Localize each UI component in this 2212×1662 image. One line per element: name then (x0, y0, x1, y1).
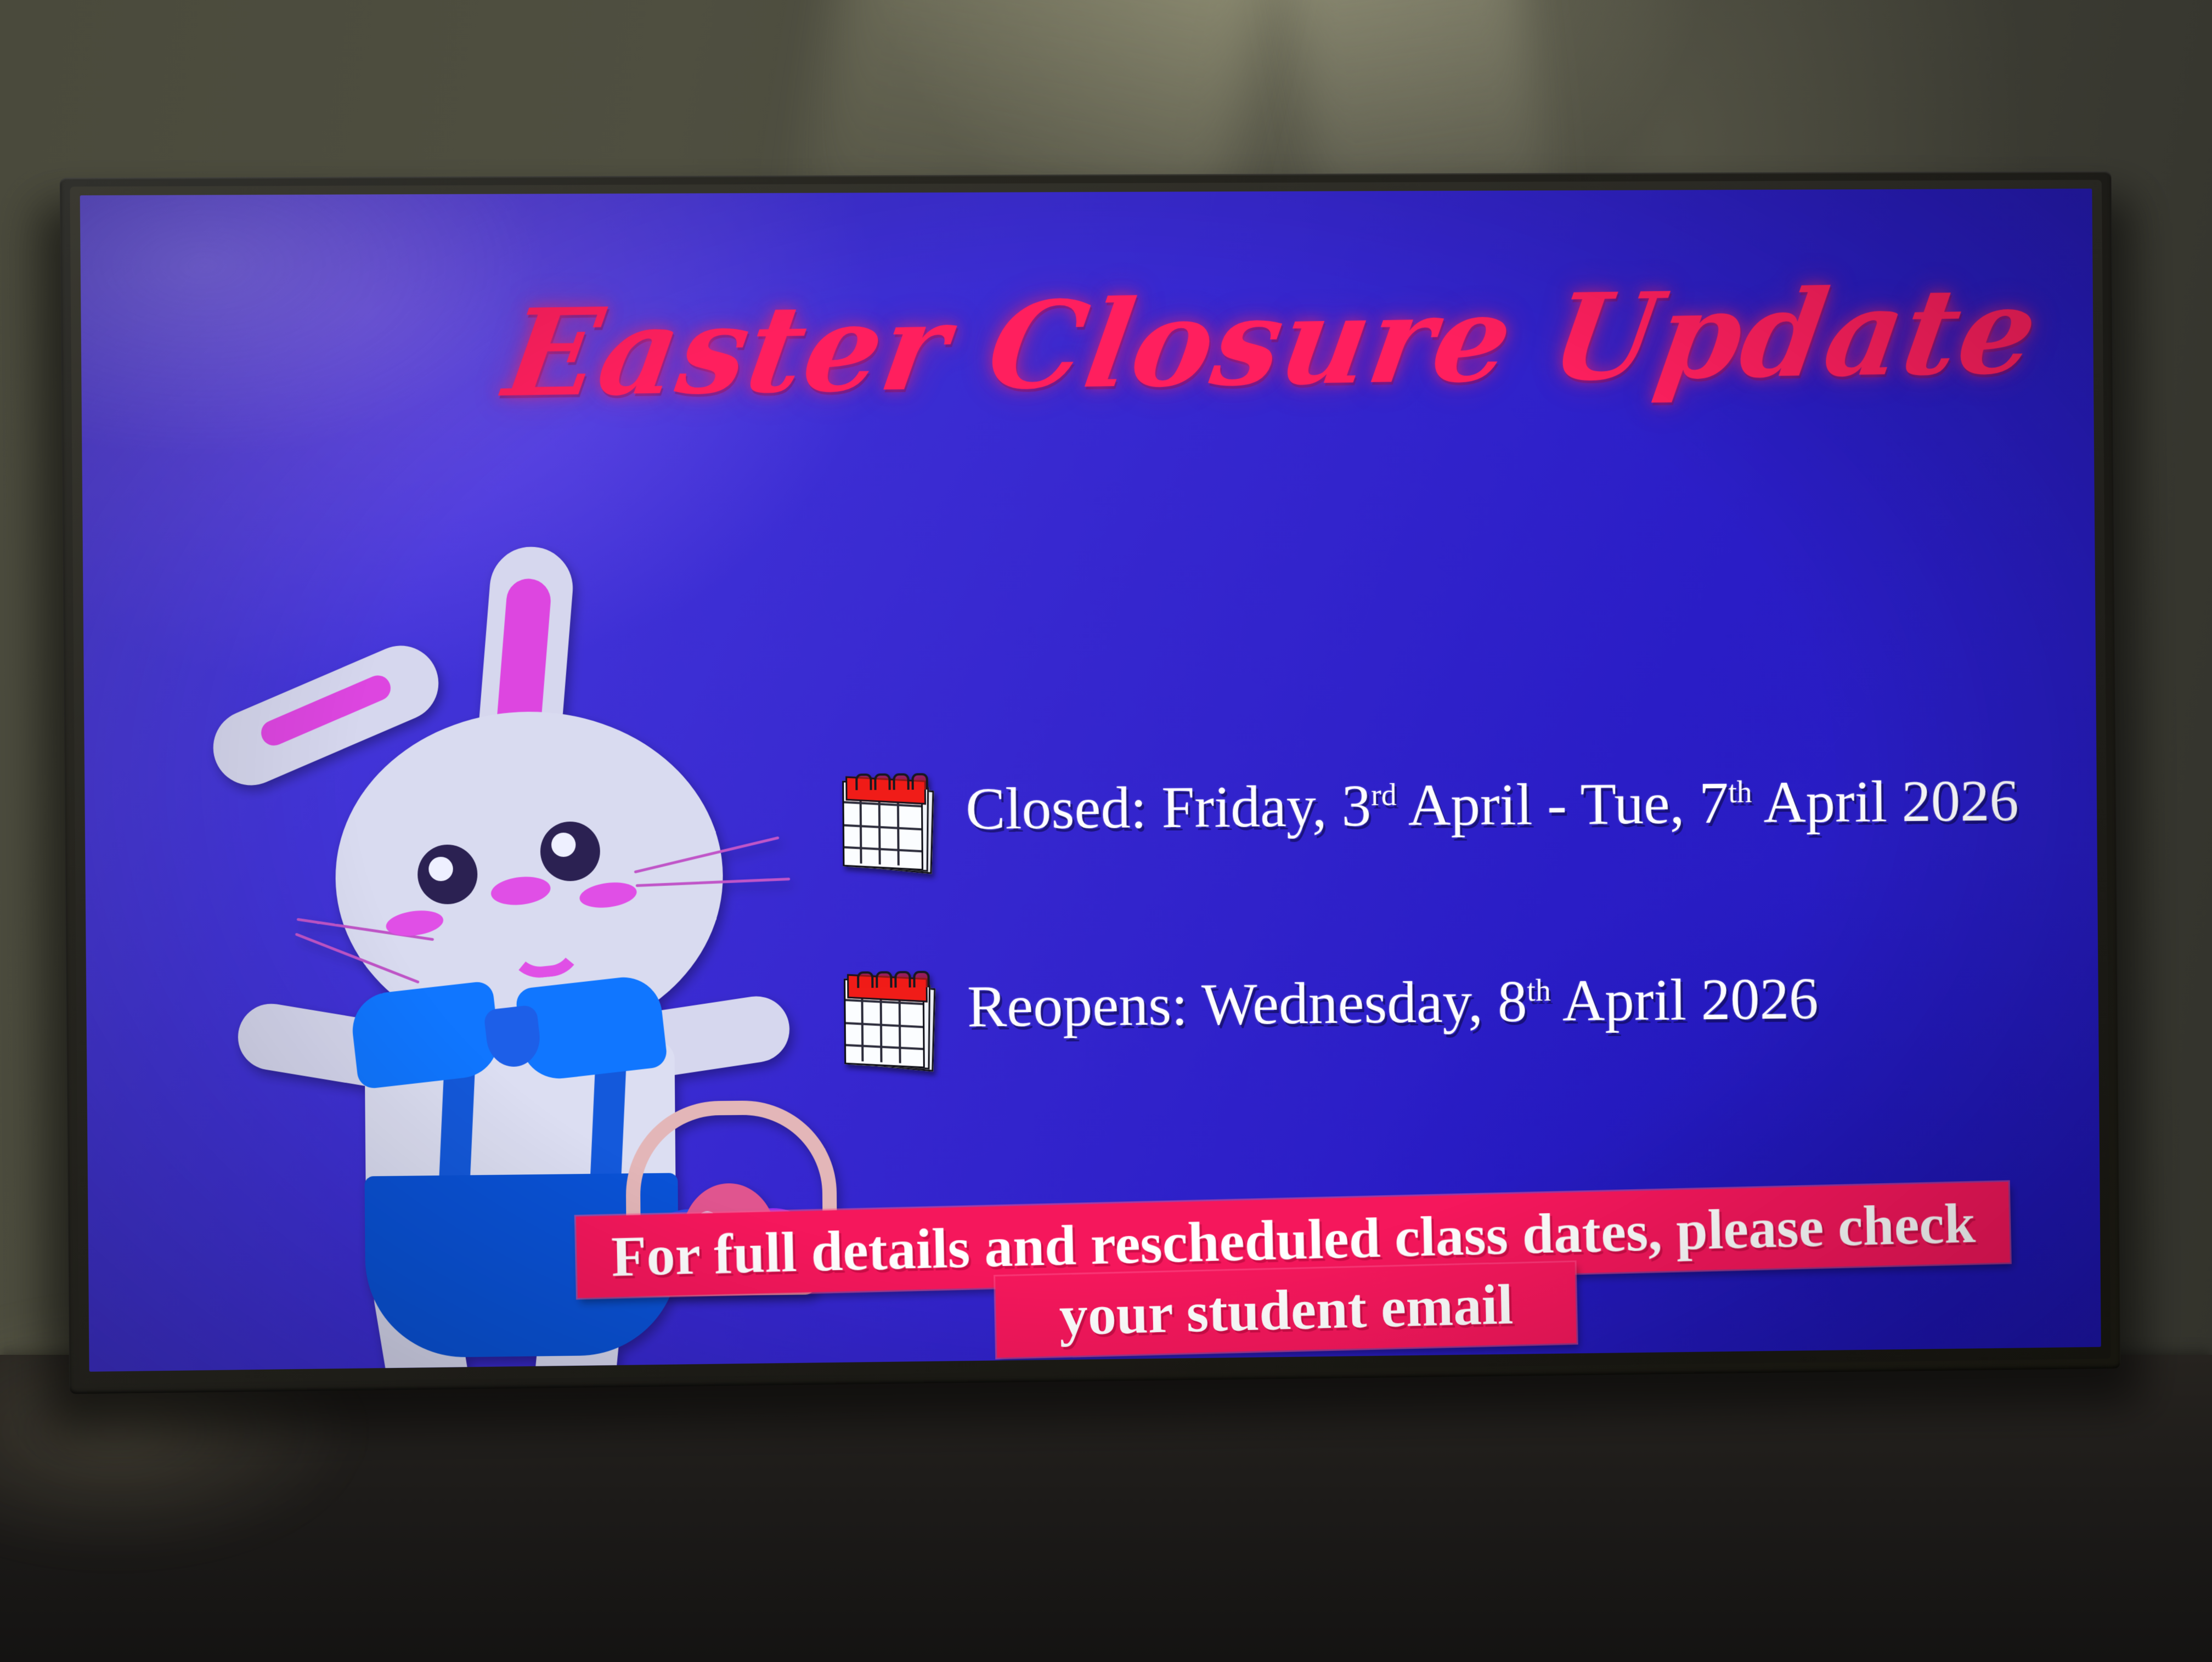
calendar-ring (913, 971, 929, 987)
slide-title: Easter Closure Update (498, 274, 1845, 414)
closed-ordinal-1: rd (1371, 778, 1397, 812)
highlight-banner-line-2: your student email (995, 1262, 1577, 1358)
bullet-row-closed: Closed: Friday, 3rd April - Tue, 7th Apr… (838, 766, 2101, 873)
closed-text-prefix: Closed: Friday, 3 (966, 773, 1372, 842)
calendar-icon (838, 778, 938, 872)
reopens-text-prefix: Reopens: Wednesday, 8 (967, 969, 1527, 1040)
presentation-slide: Easter Closure Update (80, 189, 2101, 1372)
closed-text-end: April 2026 (1752, 768, 2019, 835)
calendar-ring (894, 971, 911, 987)
display-panel: Easter Closure Update (80, 189, 2101, 1372)
calendar-ring (876, 971, 892, 988)
closed-dates-text: Closed: Friday, 3rd April - Tue, 7th Apr… (966, 766, 2019, 845)
bullet-row-reopens: Reopens: Wednesday, 8th April 2026 (839, 962, 2101, 1070)
calendar-ring (855, 773, 872, 790)
calendar-ring (874, 773, 890, 790)
wall-mounted-display: Easter Closure Update (60, 171, 2121, 1394)
calendar-ring (857, 971, 873, 988)
bunny-eye-highlight-right (551, 833, 576, 857)
reopens-text-end: April 2026 (1551, 966, 1819, 1034)
closed-ordinal-2: th (1728, 776, 1752, 810)
banner-text-line-2: your student email (1058, 1271, 1514, 1348)
calendar-ring (893, 773, 909, 790)
closed-text-mid: April - Tue, 7 (1396, 771, 1729, 838)
reopens-date-text: Reopens: Wednesday, 8th April 2026 (967, 964, 1819, 1042)
bunny-eye-highlight-left (428, 857, 453, 881)
calendar-icon (839, 976, 939, 1070)
reopens-ordinal: th (1527, 974, 1551, 1008)
calendar-ring (912, 773, 928, 789)
